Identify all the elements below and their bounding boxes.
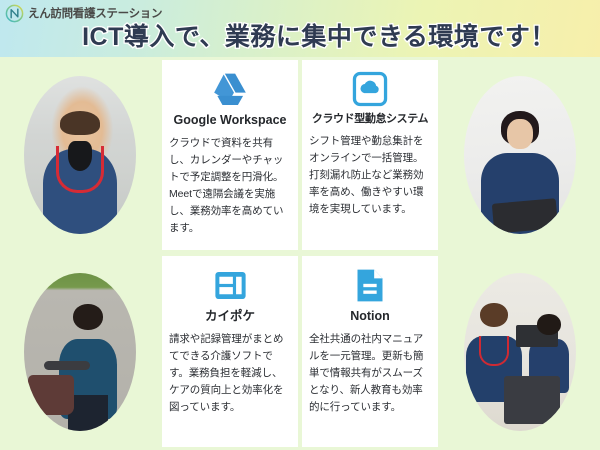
photo-detail: [492, 198, 558, 233]
card-google-workspace[interactable]: Google Workspace クラウドで資料を共有し、カレンダーやチャットで…: [162, 60, 298, 250]
dashboard-layout-icon: [213, 265, 248, 305]
card-title: クラウド型勤怠システム: [312, 113, 428, 126]
page-title: ICT導入で、業務に集中できる環境です！: [0, 17, 600, 53]
photo-detail: [28, 375, 74, 415]
photo-staff-laptops-office: [440, 253, 600, 450]
card-body: 請求や記録管理がまとめてできる介護ソフトです。業務負担を軽減し、ケアの質向上と効…: [169, 331, 291, 416]
photo-female-nurse-tablet: [440, 57, 600, 253]
photo-detail: [507, 119, 533, 149]
cloud-in-square-icon: [352, 69, 388, 109]
photo-detail: [479, 336, 509, 366]
card-title: Google Workspace: [174, 113, 287, 128]
card-cloud-attendance-system[interactable]: クラウド型勤怠システム シフト管理や勤怠集計をオンラインで一括管理。打刻漏れ防止…: [302, 60, 438, 250]
photo-oval-frame: [24, 76, 136, 234]
google-drive-icon: [211, 69, 249, 109]
document-icon: [355, 265, 385, 305]
card-kaipoke[interactable]: カイポケ 請求や記録管理がまとめてできる介護ソフトです。業務負担を軽減し、ケアの…: [162, 256, 298, 447]
card-cell: カイポケ 請求や記録管理がまとめてできる介護ソフトです。業務負担を軽減し、ケアの…: [160, 253, 300, 450]
promo-page: えん訪問看護ステーション ICT導入で、業務に集中できる環境です！: [0, 0, 600, 450]
photo-detail: [56, 146, 104, 193]
card-title: Notion: [350, 309, 390, 324]
page-header: えん訪問看護ステーション ICT導入で、業務に集中できる環境です！: [0, 0, 600, 57]
card-body: シフト管理や勤怠集計をオンラインで一括管理。打刻漏れ防止など業務効率を高め、働き…: [309, 133, 431, 218]
content-grid: Google Workspace クラウドで資料を共有し、カレンダーやチャットで…: [0, 57, 600, 450]
photo-oval-frame: [464, 76, 576, 234]
card-cell: クラウド型勤怠システム シフト管理や勤怠集計をオンラインで一括管理。打刻漏れ防止…: [300, 57, 440, 253]
photo-oval-frame: [24, 273, 136, 431]
photo-detail: [504, 376, 560, 424]
card-title: カイポケ: [205, 309, 255, 324]
photo-detail: [44, 361, 90, 370]
card-notion[interactable]: Notion 全社共通の社内マニュアルを一元管理。更新も簡単で情報共有がスムーズ…: [302, 256, 438, 447]
card-body: 全社共通の社内マニュアルを一元管理。更新も簡単で情報共有がスムーズとなり、新人教…: [309, 331, 431, 416]
card-cell: Google Workspace クラウドで資料を共有し、カレンダーやチャットで…: [160, 57, 300, 253]
photo-detail: [537, 314, 561, 335]
photo-male-nurse-street: [0, 57, 160, 253]
card-body: クラウドで資料を共有し、カレンダーやチャットで予定調整を円滑化。Meetで遠隔会…: [169, 135, 291, 237]
card-cell: Notion 全社共通の社内マニュアルを一元管理。更新も簡単で情報共有がスムーズ…: [300, 253, 440, 450]
photo-nurse-bicycle: [0, 253, 160, 450]
photo-oval-frame: [464, 273, 576, 431]
